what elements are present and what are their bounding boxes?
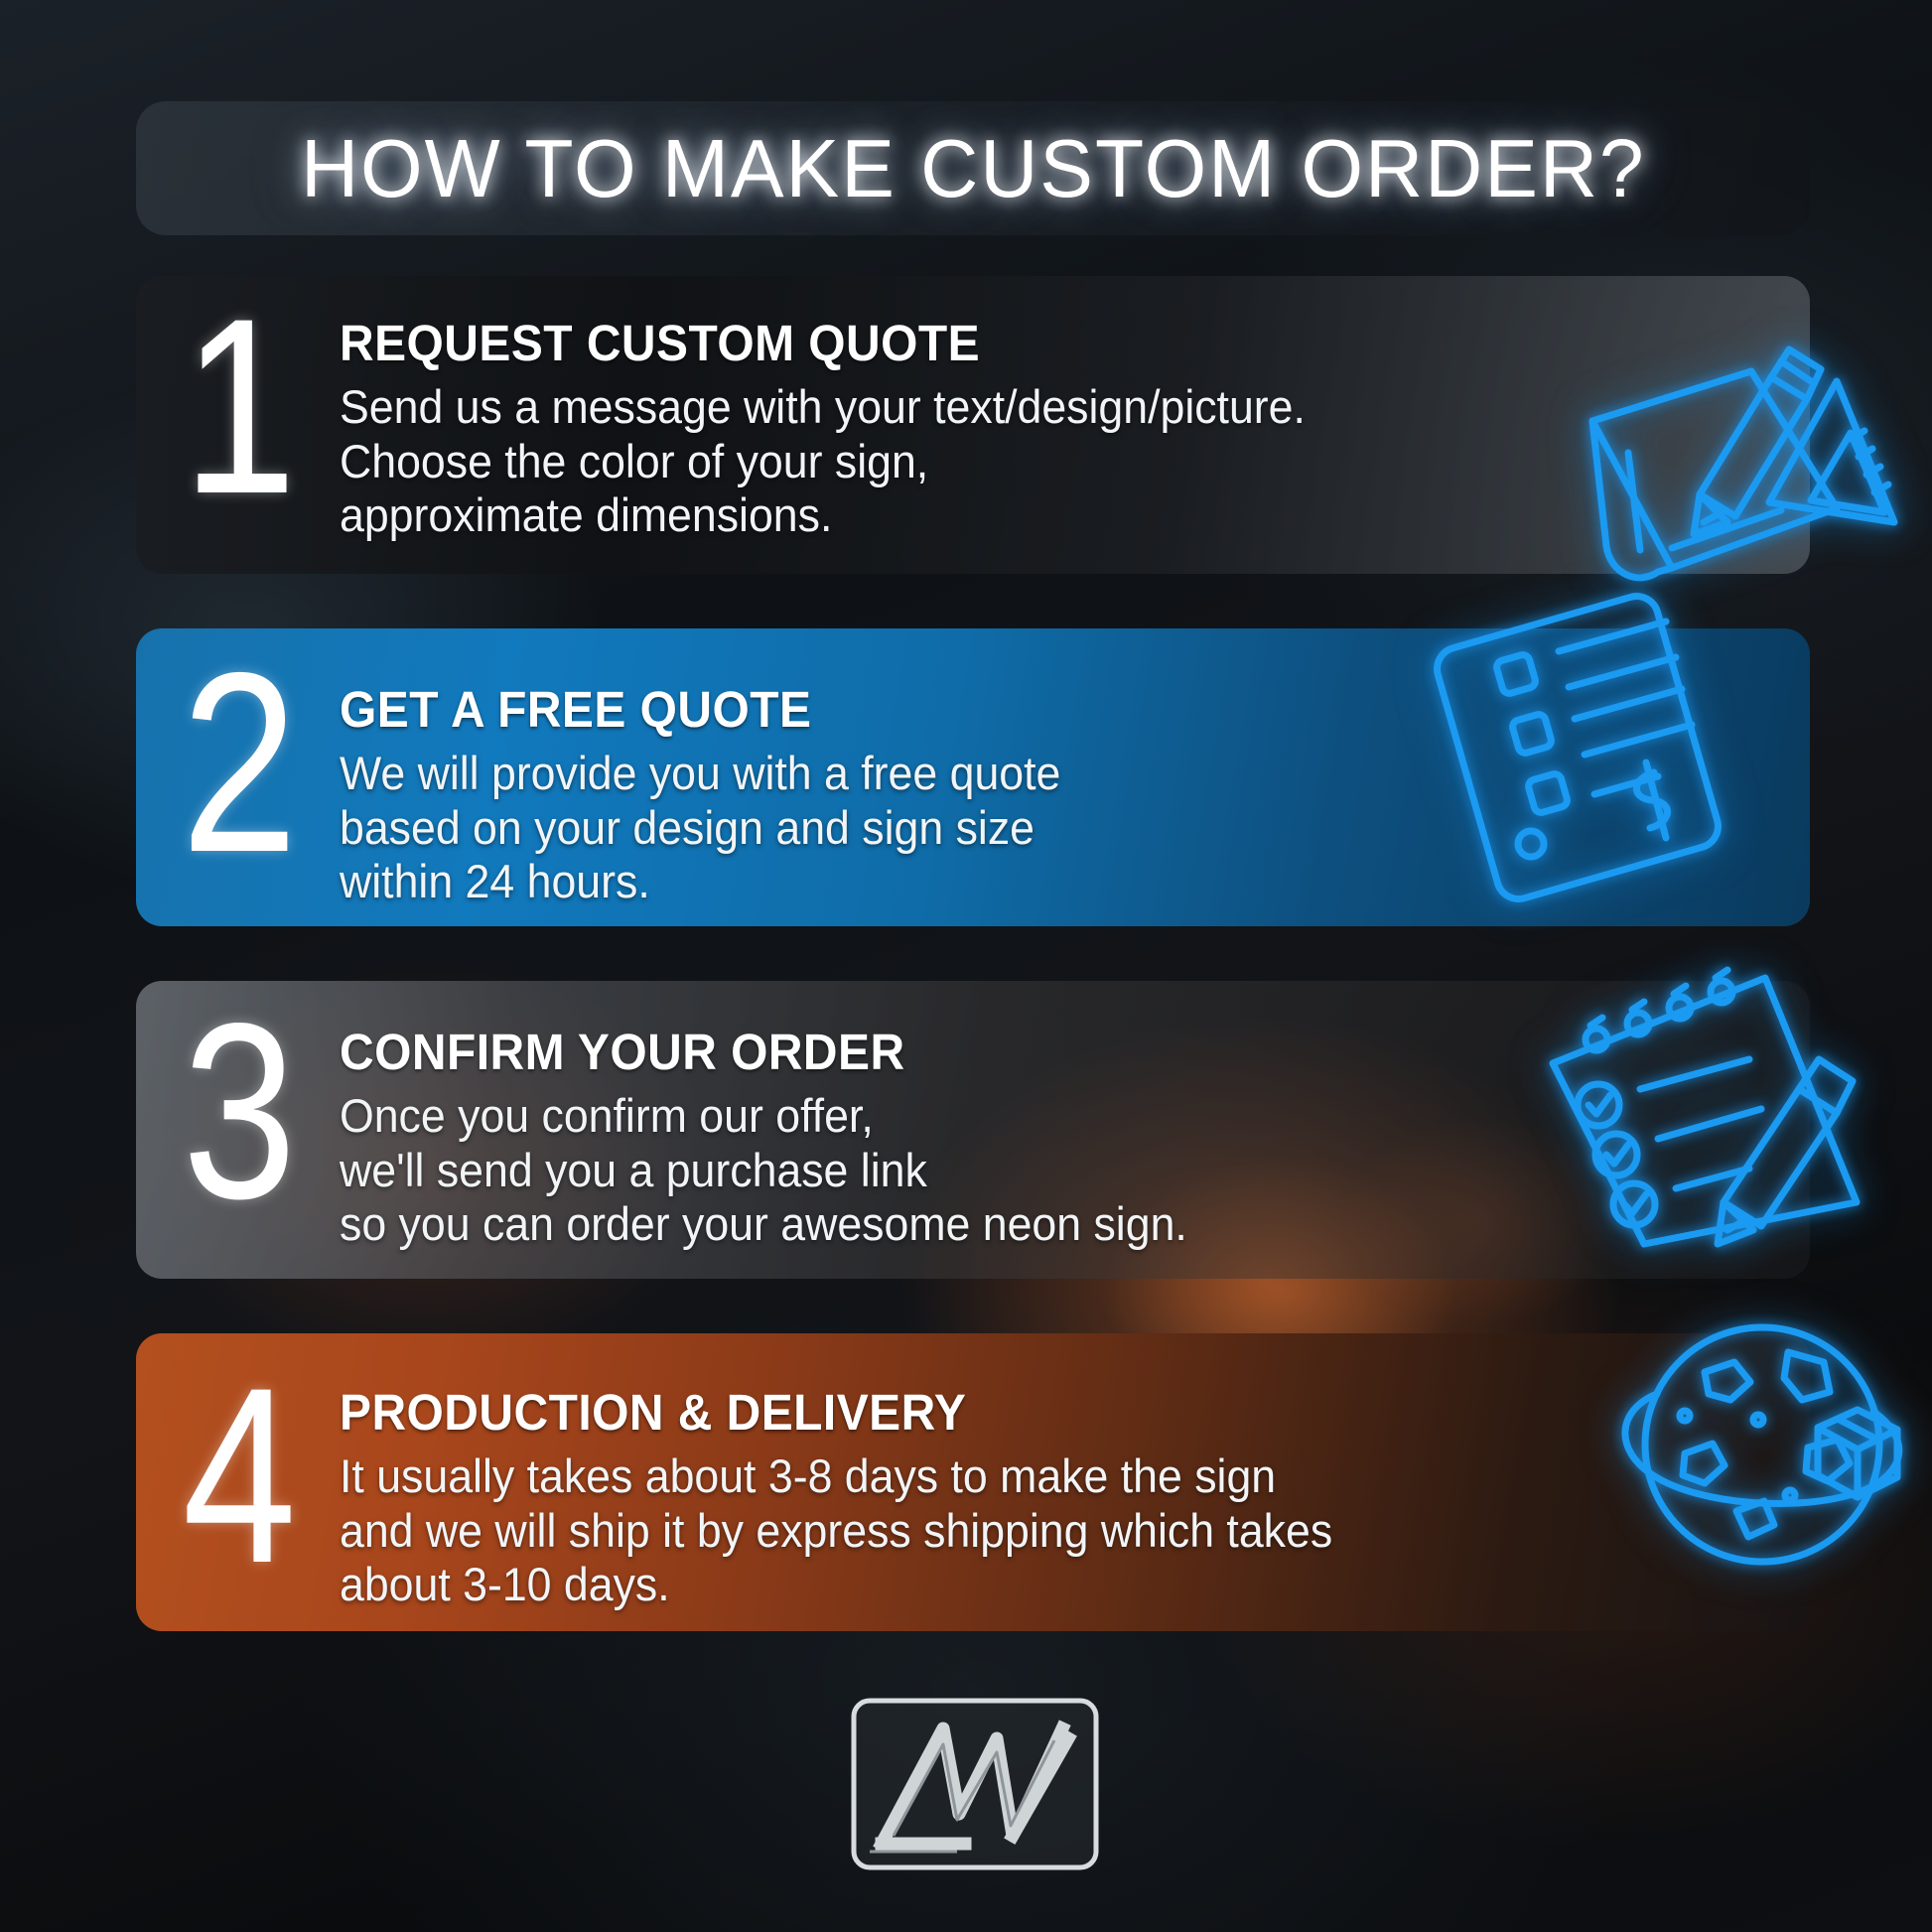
- step-title-2: GET A FREE QUOTE: [340, 680, 1700, 739]
- step-body-3: CONFIRM YOUR ORDER Once you confirm our …: [340, 981, 1810, 1252]
- step-text-line: and we will ship it by express shipping …: [340, 1504, 1714, 1559]
- step-card-2: 2 GET A FREE QUOTE We will provide you w…: [136, 628, 1810, 926]
- step-text-line: we'll send you a purchase link: [340, 1144, 1714, 1198]
- step-text-4: It usually takes about 3-8 days to make …: [340, 1449, 1714, 1612]
- step-card-4: 4 PRODUCTION & DELIVERY It usually takes…: [136, 1333, 1810, 1631]
- step-text-line: Once you confirm our offer,: [340, 1089, 1714, 1144]
- step-number-3: 3: [154, 981, 321, 1237]
- step-title-4: PRODUCTION & DELIVERY: [340, 1383, 1700, 1442]
- step-card-3: 3 CONFIRM YOUR ORDER Once you confirm ou…: [136, 981, 1810, 1279]
- page-title-bar: HOW TO MAKE CUSTOM ORDER?: [136, 101, 1810, 235]
- step-text-line: It usually takes about 3-8 days to make …: [340, 1449, 1714, 1504]
- step-text-line: Choose the color of your sign,: [340, 435, 1714, 489]
- step-number-4: 4: [154, 1333, 321, 1601]
- step-body-1: REQUEST CUSTOM QUOTE Send us a message w…: [340, 276, 1810, 543]
- step-text-line: about 3-10 days.: [340, 1558, 1714, 1612]
- step-text-line: Send us a message with your text/design/…: [340, 380, 1714, 435]
- ln-monogram-logo: [848, 1695, 1102, 1873]
- infographic-page: HOW TO MAKE CUSTOM ORDER? 1 REQUEST CUST…: [0, 0, 1932, 1932]
- step-number-1: 1: [154, 276, 321, 532]
- step-text-line: We will provide you with a free quote: [340, 747, 1714, 801]
- page-title: HOW TO MAKE CUSTOM ORDER?: [301, 121, 1646, 216]
- step-title-3: CONFIRM YOUR ORDER: [340, 1023, 1700, 1081]
- step-body-4: PRODUCTION & DELIVERY It usually takes a…: [340, 1333, 1810, 1612]
- step-card-1: 1 REQUEST CUSTOM QUOTE Send us a message…: [136, 276, 1810, 574]
- step-title-1: REQUEST CUSTOM QUOTE: [340, 314, 1700, 372]
- step-text-line: approximate dimensions.: [340, 488, 1714, 543]
- step-text-2: We will provide you with a free quote ba…: [340, 747, 1714, 909]
- step-text-line: based on your design and sign size: [340, 801, 1714, 856]
- step-number-2: 2: [154, 628, 321, 891]
- step-body-2: GET A FREE QUOTE We will provide you wit…: [340, 628, 1810, 909]
- step-text-3: Once you confirm our offer, we'll send y…: [340, 1089, 1714, 1252]
- step-text-line: within 24 hours.: [340, 855, 1714, 909]
- step-text-1: Send us a message with your text/design/…: [340, 380, 1714, 543]
- step-text-line: so you can order your awesome neon sign.: [340, 1197, 1714, 1252]
